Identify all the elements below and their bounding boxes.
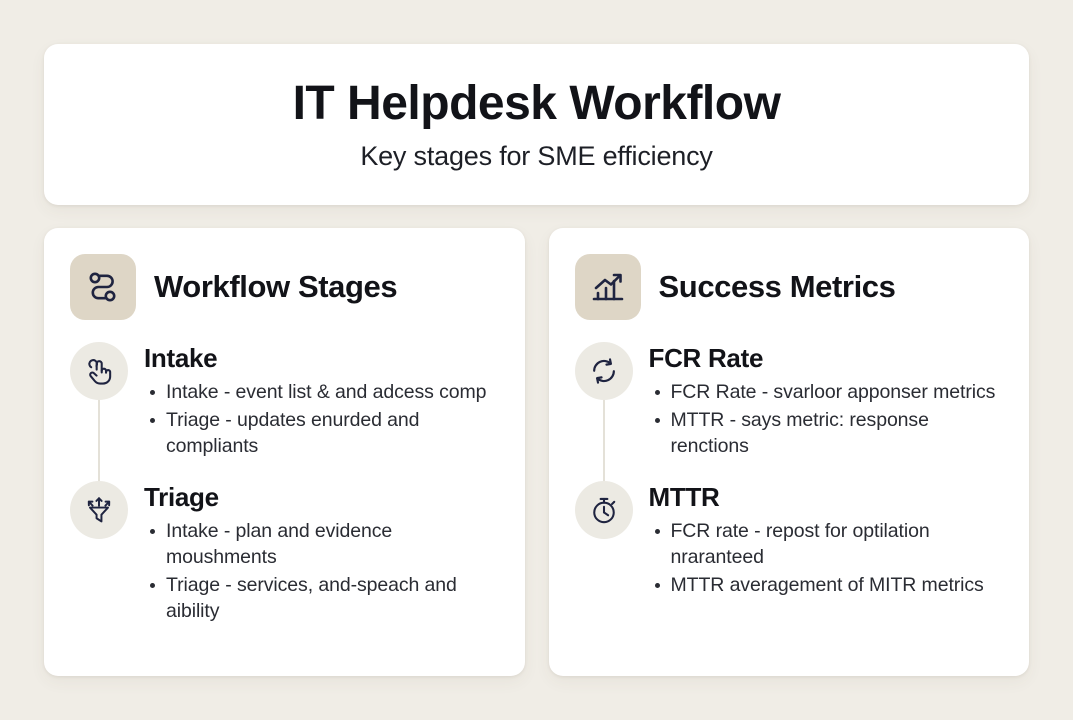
bullet-item: Intake - event list & and adcess comp [144, 379, 503, 405]
stage-item-mttr: MTTR FCR rate - repost for optilation nr… [575, 481, 1008, 600]
stage-list-metrics: FCR Rate FCR Rate - svarloor apponser me… [575, 342, 1008, 600]
stage-bullets-triage: Intake - plan and evidence moushments Tr… [144, 518, 503, 625]
stage-marker [575, 342, 633, 400]
tap-hand-icon [70, 342, 128, 400]
header-card: IT Helpdesk Workflow Key stages for SME … [44, 44, 1029, 205]
card-workflow-stages: Workflow Stages [44, 228, 525, 676]
card-header-success-metrics: Success Metrics [575, 254, 1008, 320]
stage-item-fcr-rate: FCR Rate FCR Rate - svarloor apponser me… [575, 342, 1008, 461]
stage-marker [70, 342, 128, 400]
stage-body: Triage Intake - plan and evidence moushm… [144, 481, 503, 626]
content-columns: Workflow Stages [44, 228, 1029, 676]
stage-connector [98, 400, 100, 492]
card-title-workflow-stages: Workflow Stages [154, 269, 397, 305]
stage-item-triage: Triage Intake - plan and evidence moushm… [70, 481, 503, 626]
bullet-item: Triage - services, and-speach and aibili… [144, 572, 503, 624]
route-icon [70, 254, 136, 320]
stage-bullets-intake: Intake - event list & and adcess comp Tr… [144, 379, 503, 459]
card-title-success-metrics: Success Metrics [659, 269, 896, 305]
bar-chart-up-icon [575, 254, 641, 320]
stage-name-mttr: MTTR [649, 483, 1008, 512]
refresh-cycle-icon [575, 342, 633, 400]
stage-connector [603, 400, 605, 492]
stopwatch-icon [575, 481, 633, 539]
bullet-item: Triage - updates enurded and compliants [144, 407, 503, 459]
bullet-item: MTTR averagement of MITR metrics [649, 572, 1008, 598]
stage-marker [70, 481, 128, 539]
stage-list-workflow: Intake Intake - event list & and adcess … [70, 342, 503, 626]
card-success-metrics: Success Metrics [549, 228, 1030, 676]
stage-body: MTTR FCR rate - repost for optilation nr… [649, 481, 1008, 600]
bullet-item: FCR Rate - svarloor apponser metrics [649, 379, 1008, 405]
page-subtitle: Key stages for SME efficiency [360, 141, 712, 172]
bullet-item: FCR rate - repost for optilation nrarant… [649, 518, 1008, 570]
bullet-item: Intake - plan and evidence moushments [144, 518, 503, 570]
stage-bullets-mttr: FCR rate - repost for optilation nrarant… [649, 518, 1008, 598]
page-title: IT Helpdesk Workflow [293, 77, 781, 131]
stage-bullets-fcr-rate: FCR Rate - svarloor apponser metrics MTT… [649, 379, 1008, 459]
stage-item-intake: Intake Intake - event list & and adcess … [70, 342, 503, 461]
stage-name-intake: Intake [144, 344, 503, 373]
stage-body: Intake Intake - event list & and adcess … [144, 342, 503, 461]
stage-name-fcr-rate: FCR Rate [649, 344, 1008, 373]
stage-name-triage: Triage [144, 483, 503, 512]
funnel-arrows-icon [70, 481, 128, 539]
bullet-item: MTTR - says metric: response renctions [649, 407, 1008, 459]
slide-root: IT Helpdesk Workflow Key stages for SME … [0, 0, 1073, 720]
stage-marker [575, 481, 633, 539]
card-header-workflow-stages: Workflow Stages [70, 254, 503, 320]
stage-body: FCR Rate FCR Rate - svarloor apponser me… [649, 342, 1008, 461]
